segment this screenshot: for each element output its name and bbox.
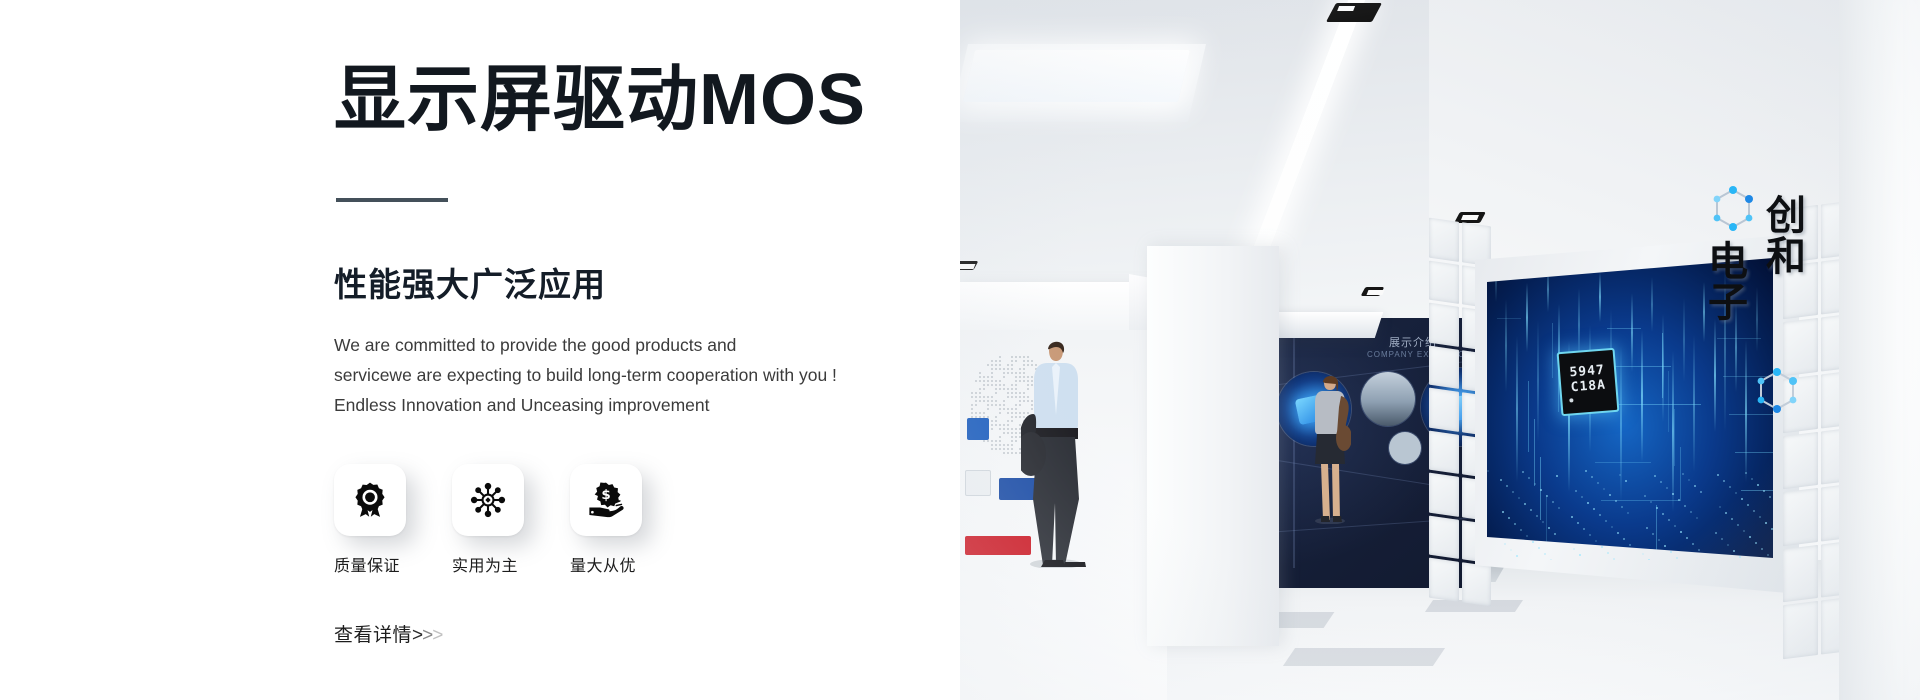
embossed-panel-cell	[1429, 430, 1459, 474]
view-details-link[interactable]: 查看详情>>>	[334, 620, 442, 647]
embossed-panel-cell	[1462, 563, 1492, 607]
description-line-3: Endless Innovation and Unceasing improve…	[334, 390, 894, 420]
exhibit-circle-photo	[1389, 432, 1421, 464]
circuit-light-streak	[1683, 298, 1685, 382]
visitor-woman	[1309, 372, 1351, 524]
wall-sign-icon	[965, 470, 991, 496]
embossed-panel-cell	[1429, 260, 1459, 304]
showroom-photo: 展示介绍 COMPANY EXHIBITION	[959, 0, 1920, 700]
embossed-panel-cell	[1783, 601, 1818, 659]
circuit-trace	[1668, 371, 1669, 432]
logo-char: 和	[1766, 237, 1806, 278]
circuit-light-streak	[1631, 293, 1633, 372]
logo-text-column-left: 电 子	[1708, 242, 1748, 324]
circuit-trace	[1595, 462, 1651, 463]
feature-tile	[452, 464, 524, 536]
circuit-light-streak	[1537, 320, 1539, 442]
logo-text-column-right: 创 和	[1766, 196, 1806, 278]
embossed-panel-cell	[1429, 303, 1459, 347]
circuit-light-streak	[1526, 283, 1528, 352]
white-pillar	[1147, 246, 1279, 646]
feature-label: 质量保证	[334, 552, 400, 576]
led-particle-field	[1487, 470, 1773, 560]
embossed-panel-cell	[1429, 345, 1459, 389]
molecule-hexagon-icon	[1754, 366, 1800, 418]
feature-list: 质量保证	[334, 464, 662, 576]
circuit-light-streak	[1505, 299, 1507, 392]
embossed-panel-cell	[1429, 218, 1459, 262]
circuit-trace	[1619, 404, 1701, 405]
company-logo-wall: 创 和 电 子	[1696, 190, 1846, 430]
hand-holding-money-icon: $	[587, 481, 625, 519]
circuit-light-streak	[1599, 272, 1601, 322]
cta-arrows: >>>	[412, 625, 442, 647]
chip-pin1-dot	[1569, 398, 1573, 402]
embossed-panel-cell	[1429, 558, 1459, 602]
feature-label: 实用为主	[452, 552, 518, 576]
hero-banner: 显示屏驱动MOS 性能强大广泛应用 We are committed to pr…	[0, 0, 1920, 700]
chip-label-line-2: C18A	[1570, 377, 1606, 395]
svg-text:$: $	[601, 488, 610, 503]
chip-graphic: 5947 C18A	[1557, 348, 1620, 416]
page-title: 显示屏驱动MOS	[334, 60, 866, 141]
embossed-panel-cell	[1783, 545, 1818, 603]
floor-tile	[1283, 648, 1445, 666]
skylight-panel-light	[963, 50, 1190, 102]
circuit-trace	[1528, 381, 1529, 452]
feature-tile: $	[570, 464, 642, 536]
award-badge-icon	[351, 481, 389, 519]
cta-label: 查看详情	[334, 620, 412, 647]
wall-light-glow	[1903, 0, 1912, 700]
embossed-panel-cell	[1783, 488, 1818, 546]
embossed-panel-cell	[1783, 431, 1818, 489]
molecule-hexagon-icon	[1710, 184, 1756, 236]
feature-item-bulk-price[interactable]: $ 量大从优	[570, 464, 662, 576]
section-subtitle: 性能强大广泛应用	[334, 258, 606, 306]
feature-item-practical[interactable]: 实用为主	[452, 464, 544, 576]
text-panel: 显示屏驱动MOS 性能强大广泛应用 We are committed to pr…	[0, 0, 960, 700]
description-line-1: We are committed to provide the good pro…	[334, 330, 894, 360]
circuit-trace	[1662, 333, 1663, 398]
feature-item-quality[interactable]: 质量保证	[334, 464, 426, 576]
circuit-light-streak	[1651, 277, 1653, 332]
title-divider	[336, 198, 448, 202]
embossed-panel-cell	[1429, 516, 1459, 560]
feature-tile	[334, 464, 406, 536]
embossed-panel-cell	[1429, 388, 1459, 432]
network-hub-icon	[469, 481, 507, 519]
circuit-trace	[1607, 328, 1641, 329]
feature-label: 量大从优	[570, 552, 636, 576]
visitor-man	[1021, 336, 1091, 568]
exhibit-circle-photo	[1361, 372, 1415, 426]
circuit-light-streak	[1516, 336, 1518, 482]
description-paragraph: We are committed to provide the good pro…	[334, 330, 894, 420]
recessed-spotlight	[1361, 287, 1385, 296]
circuit-light-streak	[1641, 330, 1643, 462]
circuit-trace	[1552, 323, 1553, 378]
circuit-trace	[1674, 409, 1675, 466]
wall-plaque	[967, 418, 989, 440]
logo-char: 子	[1708, 283, 1748, 324]
description-line-2: servicewe are expecting to build long-te…	[334, 360, 894, 390]
logo-char: 电	[1708, 242, 1748, 283]
embossed-panel-cell	[1429, 473, 1459, 517]
logo-char: 创	[1766, 196, 1806, 237]
circuit-trace	[1497, 318, 1521, 319]
